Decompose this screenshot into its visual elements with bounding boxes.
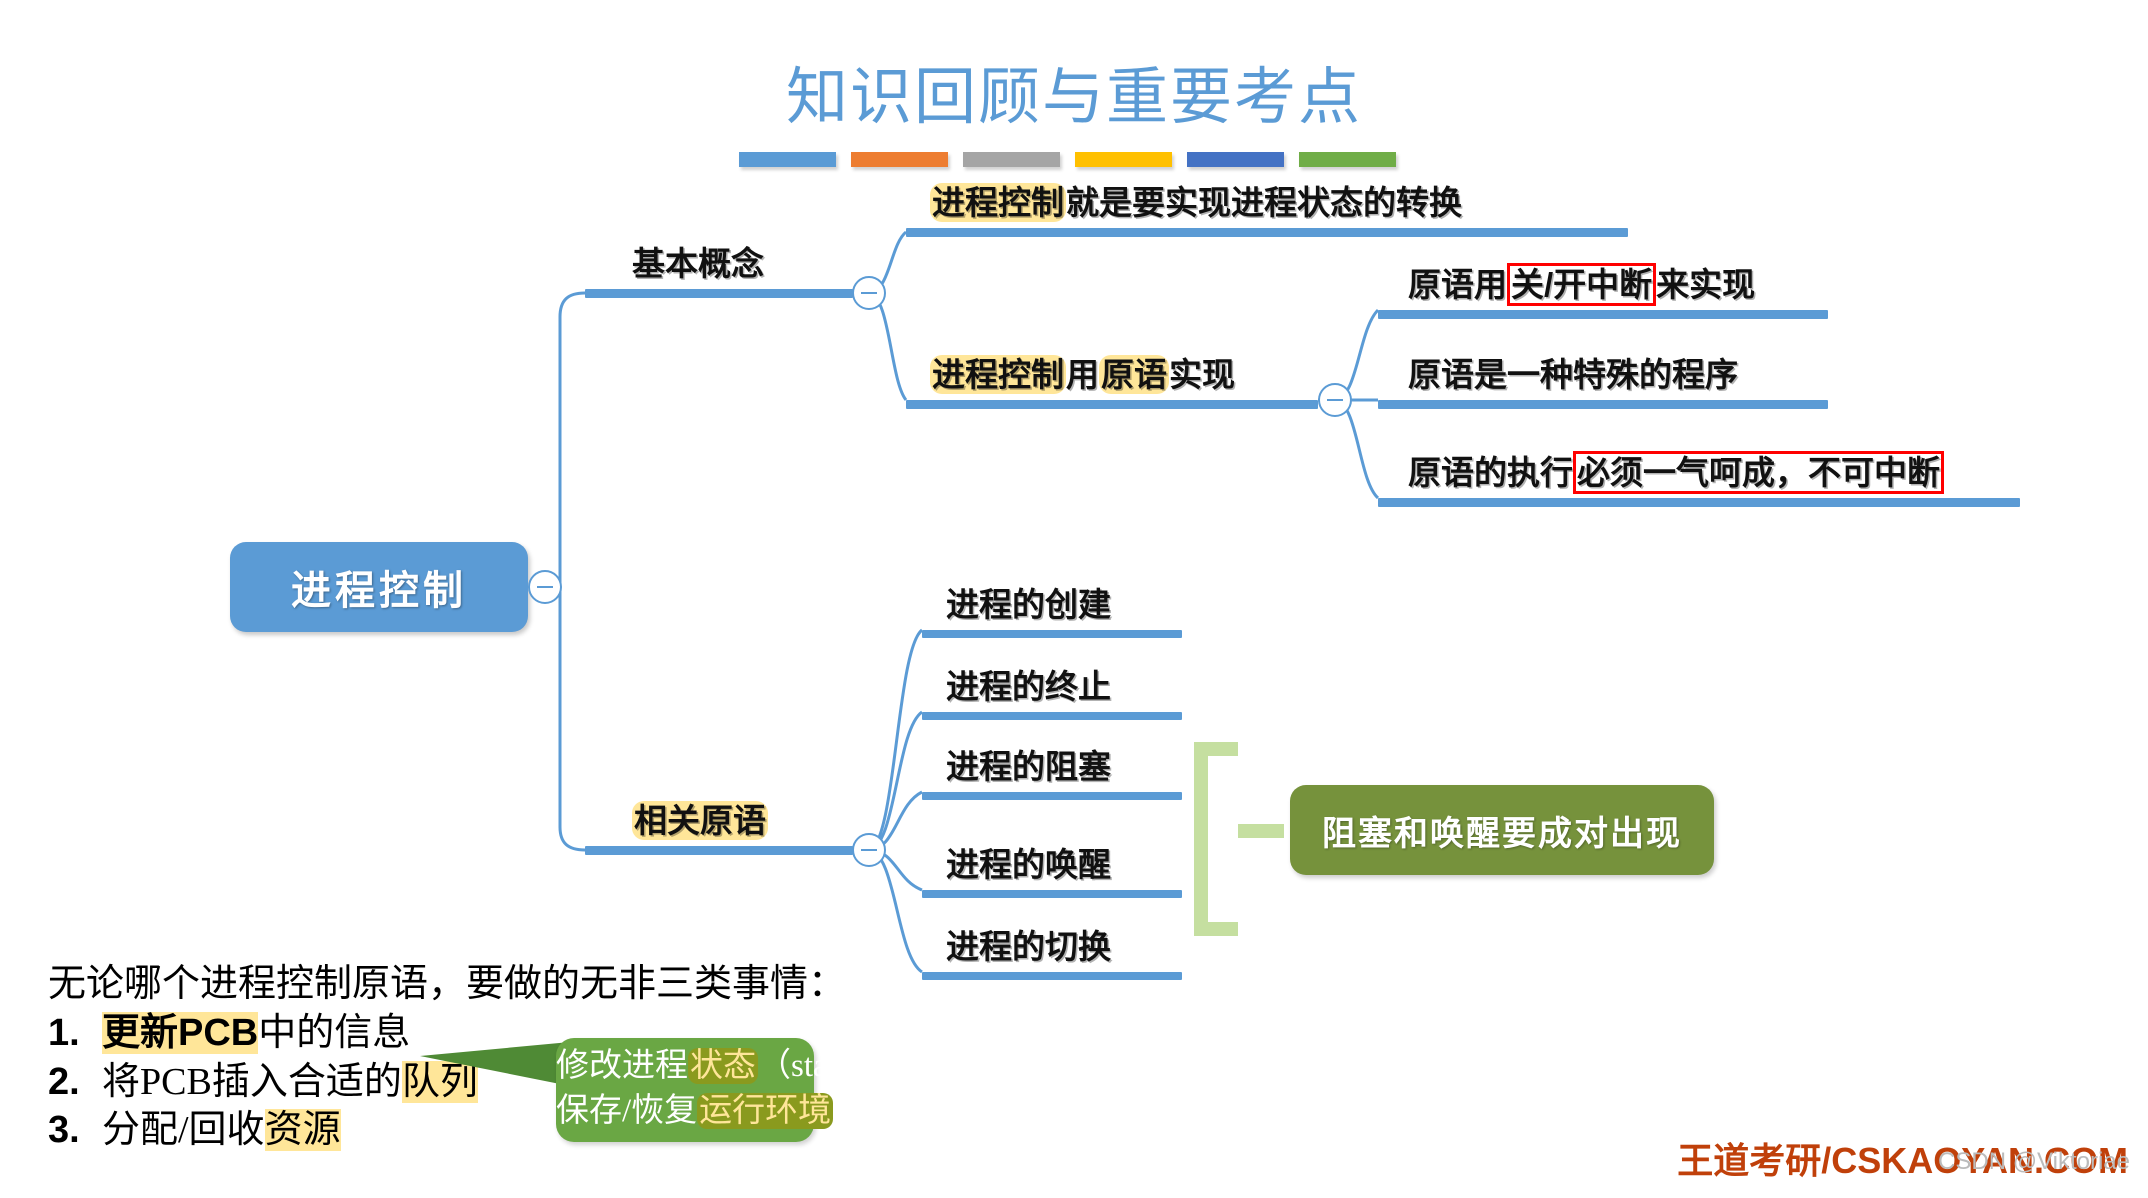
underline-basic-concept bbox=[585, 289, 853, 298]
underline-primitive-wakeup bbox=[922, 890, 1182, 898]
bar-orange bbox=[851, 152, 948, 167]
underline-state-change bbox=[906, 228, 1628, 237]
underline-primitive-terminate bbox=[922, 712, 1182, 720]
underline-primitive-interrupt bbox=[1378, 310, 1828, 319]
csdn-watermark: CSDN @Viktoriae bbox=[1938, 1148, 2130, 1176]
node-primitive-atomic[interactable]: 原语的执行必须一气呵成，不可中断 bbox=[1408, 446, 1944, 494]
toggle-related-primitives[interactable] bbox=[852, 833, 886, 867]
highlight-runtime-env: 运行环境 bbox=[697, 1093, 833, 1129]
node-process-control-uses-primitive[interactable]: 进程控制用原语实现 bbox=[930, 348, 1235, 396]
slide-canvas: 知识回顾与重要考点 bbox=[0, 0, 2148, 1198]
note-intro: 无论哪个进程控制原语，要做的无非三类事情： bbox=[48, 962, 846, 1007]
highlight-resource: 资源 bbox=[265, 1109, 341, 1151]
bubble-text: 修改进程状态（state） 保存/恢复运行环境 bbox=[556, 1044, 814, 1133]
node-primitive-block[interactable]: 进程的阻塞 bbox=[946, 740, 1111, 788]
highlight-update-pcb: 更新PCB bbox=[102, 1012, 258, 1054]
green-bracket bbox=[1194, 742, 1238, 936]
bar-gray bbox=[963, 152, 1060, 167]
note-item-2-number: 2. bbox=[48, 1060, 102, 1105]
node-primitive-switch[interactable]: 进程的切换 bbox=[946, 920, 1111, 968]
underline-primitive-create bbox=[922, 630, 1182, 638]
accent-bar-group bbox=[739, 152, 1396, 167]
highlight-process-control-2: 进程控制 bbox=[930, 355, 1066, 394]
note-item-1-number: 1. bbox=[48, 1011, 102, 1056]
page-title: 知识回顾与重要考点 bbox=[0, 46, 2148, 136]
redbox-open-close-interrupt: 关/开中断 bbox=[1507, 263, 1656, 306]
bubble-line-1: 修改进程状态（state） bbox=[556, 1044, 814, 1089]
underline-related-primitives bbox=[585, 846, 853, 855]
highlight-process-control: 进程控制 bbox=[930, 183, 1066, 222]
bar-blue bbox=[739, 152, 836, 167]
root-node-process-control[interactable]: 进程控制 bbox=[230, 542, 528, 632]
highlight-related-primitives: 相关原语 bbox=[632, 801, 768, 840]
bubble-line-2: 保存/恢复运行环境 bbox=[556, 1089, 814, 1134]
callout-block-wakeup-pair[interactable]: 阻塞和唤醒要成对出现 bbox=[1290, 785, 1714, 875]
toggle-uses-primitive[interactable] bbox=[1318, 383, 1352, 417]
node-primitive-interrupt[interactable]: 原语用关/开中断来实现 bbox=[1408, 258, 1755, 306]
underline-primitive-switch bbox=[922, 972, 1182, 980]
bar-green bbox=[1299, 152, 1396, 167]
node-primitive-special-program[interactable]: 原语是一种特殊的程序 bbox=[1408, 348, 1738, 396]
node-process-control-state-change[interactable]: 进程控制就是要实现进程状态的转换 bbox=[930, 176, 1462, 224]
node-primitive-terminate[interactable]: 进程的终止 bbox=[946, 660, 1111, 708]
bar-darkblue bbox=[1187, 152, 1284, 167]
underline-primitive-atomic bbox=[1378, 498, 2020, 507]
bubble-tail bbox=[420, 1042, 570, 1086]
underline-special-program bbox=[1378, 400, 1828, 409]
node-primitive-create[interactable]: 进程的创建 bbox=[946, 578, 1111, 626]
toggle-root-collapse[interactable] bbox=[528, 570, 562, 604]
bar-yellow bbox=[1075, 152, 1172, 167]
node-label-basic-concept[interactable]: 基本概念 bbox=[632, 237, 764, 285]
highlight-state: 状态 bbox=[688, 1048, 758, 1084]
note-item-3-number: 3. bbox=[48, 1108, 102, 1153]
underline-primitive-block bbox=[922, 792, 1182, 800]
underline-uses-primitive bbox=[906, 400, 1318, 409]
toggle-basic-concept[interactable] bbox=[852, 276, 886, 310]
highlight-primitive: 原语 bbox=[1099, 355, 1169, 394]
redbox-atomic-no-interrupt: 必须一气呵成，不可中断 bbox=[1573, 451, 1944, 494]
node-label-related-primitives[interactable]: 相关原语 bbox=[632, 794, 768, 842]
node-primitive-wakeup[interactable]: 进程的唤醒 bbox=[946, 838, 1111, 886]
green-bracket-stem bbox=[1238, 824, 1284, 838]
